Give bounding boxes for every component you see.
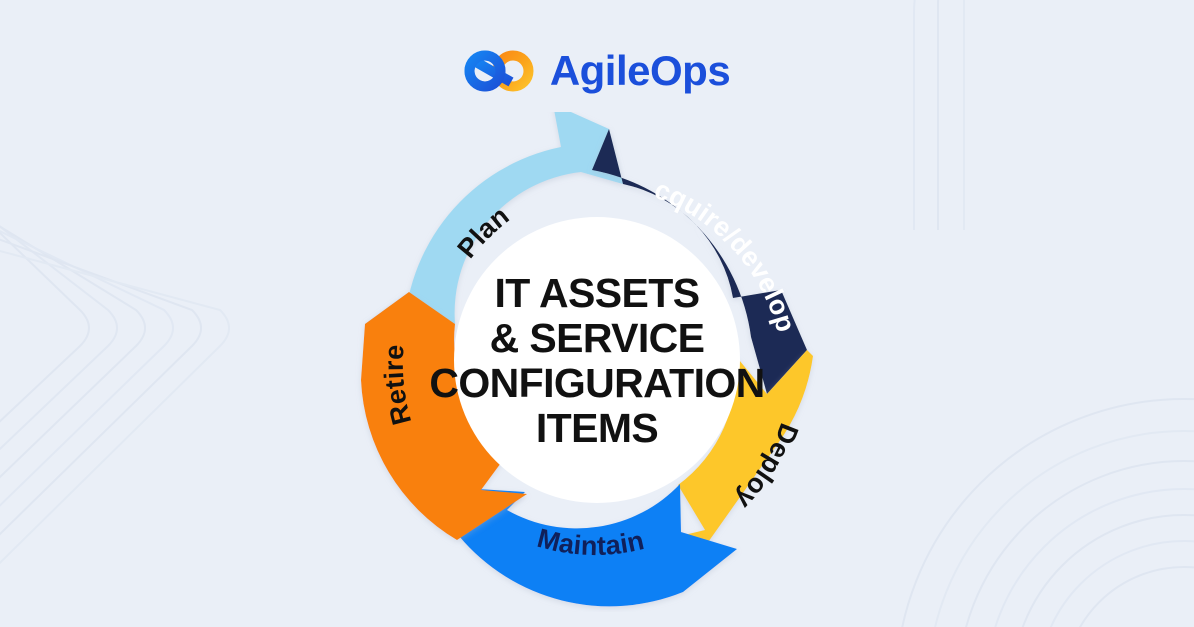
infinity-loop-icon [464,46,536,96]
brand-header: AgileOps [0,46,1194,96]
center-line-3: CONFIGURATION [429,360,764,406]
center-line-1: IT ASSETS [495,270,700,316]
poster-canvas: AgileOps Plan [0,0,1194,627]
chevron-watermark-left [0,60,270,580]
arc-watermark-bottom-right [854,357,1194,627]
rounded-corner-watermark-top-right [904,0,1194,230]
center-line-2: & SERVICE [490,315,705,361]
lifecycle-diagram: Plan Acquire/develop Deploy [347,112,847,612]
center-line-4: ITEMS [536,405,658,451]
brand-name: AgileOps [550,50,730,92]
